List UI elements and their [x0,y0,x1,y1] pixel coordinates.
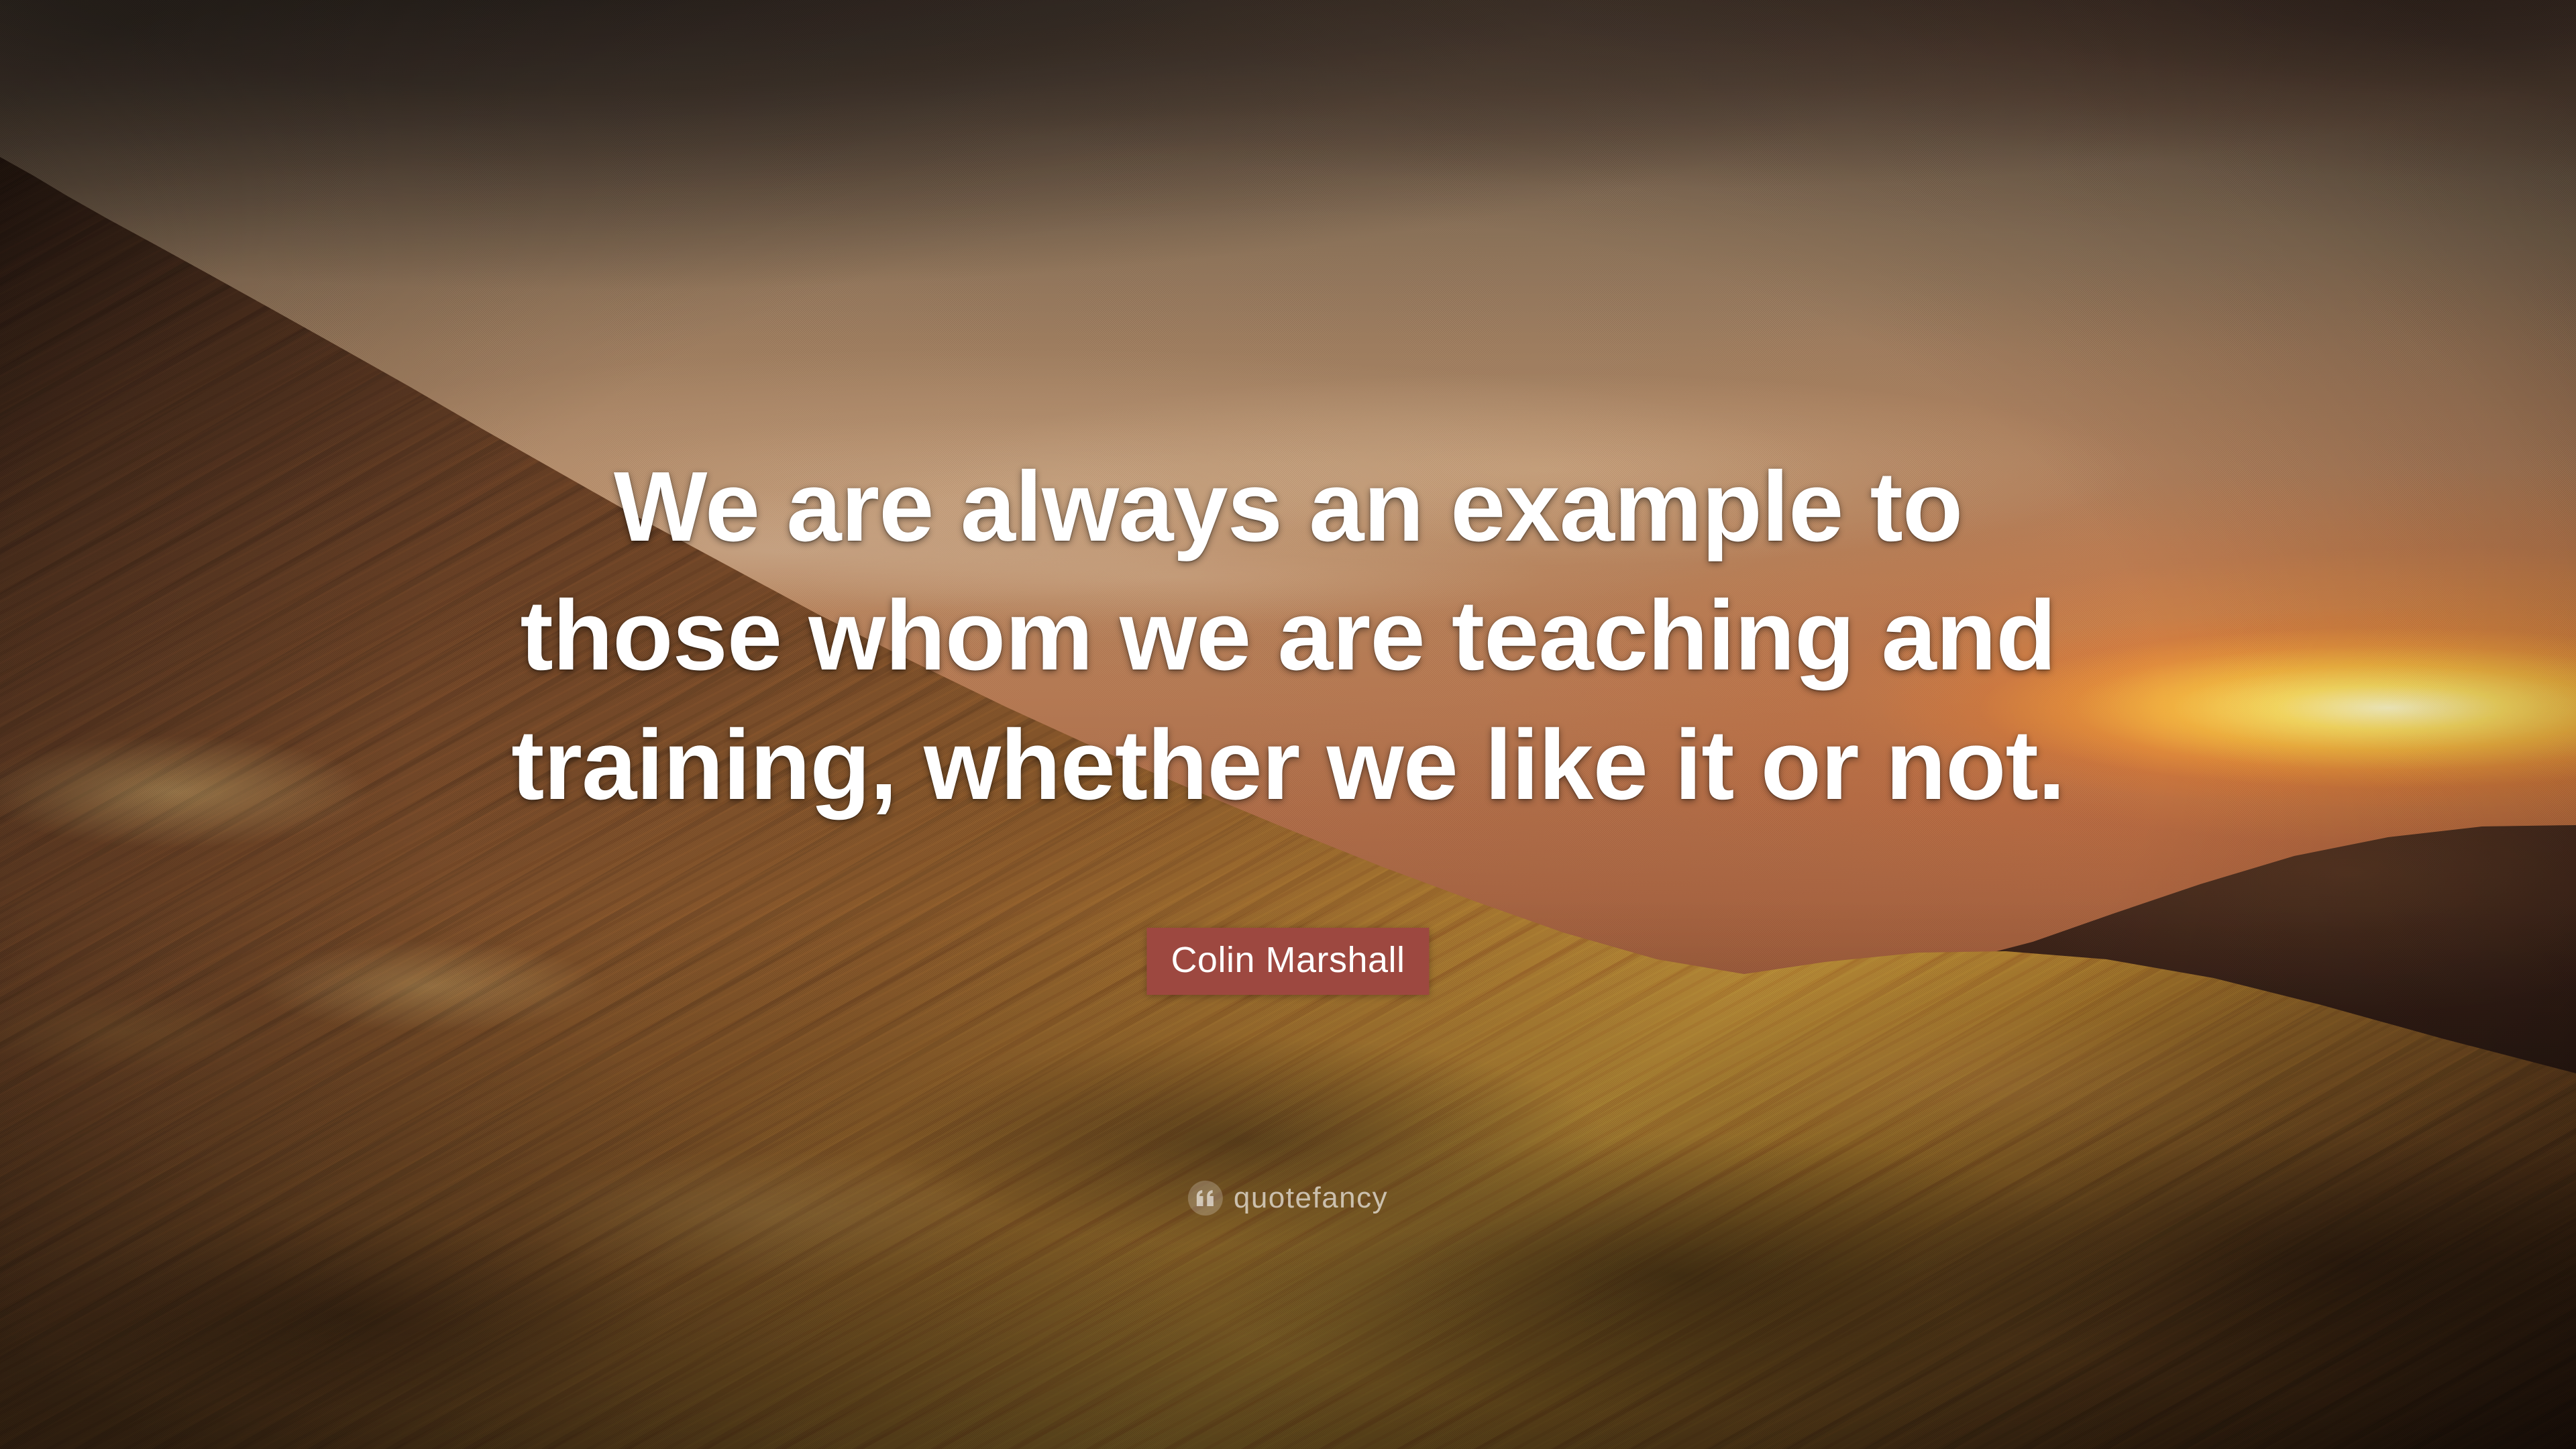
quotefancy-wordmark: quotefancy [1234,1181,1388,1215]
quote-line-1: We are always an example to [382,443,2194,572]
author-name: Colin Marshall [1171,940,1405,980]
quote-text: We are always an example to those whom w… [382,443,2194,830]
quotefancy-watermark[interactable]: quotefancy [1188,1181,1388,1216]
quote-line-2: those whom we are teaching and [382,572,2194,700]
quote-poster: We are always an example to those whom w… [0,0,2576,1449]
quote-line-3: training, whether we like it or not. [382,701,2194,830]
double-quote-icon [1188,1181,1223,1216]
poster-content: We are always an example to those whom w… [0,0,2576,1449]
author-badge[interactable]: Colin Marshall [1146,928,1429,995]
